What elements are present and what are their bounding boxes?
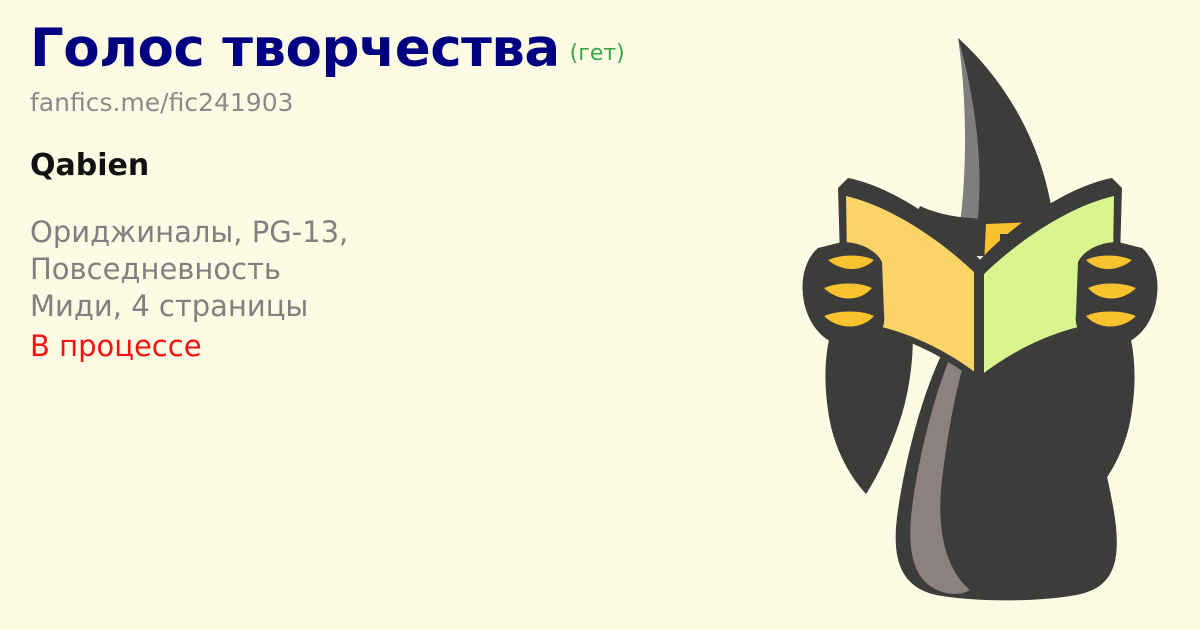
meta-line-fandom-rating: Ориджиналы, PG-13, — [30, 214, 730, 251]
right-hand — [1076, 242, 1158, 344]
book-spine — [976, 266, 984, 392]
meta-line-genre: Повседневность — [30, 251, 730, 288]
author-name: Qabien — [30, 148, 730, 183]
source-url: fanfics.me/fic241903 — [30, 88, 730, 117]
meta-line-size-pages: Миди, 4 страницы — [30, 288, 730, 325]
status-badge: В процессе — [30, 328, 730, 365]
metadata-block: Ориджиналы, PG-13, Повседневность Миди, … — [30, 214, 730, 365]
text-column: Голос творчества(гет) fanfics.me/fic2419… — [30, 22, 730, 365]
page-title: Голос творчества — [30, 18, 560, 79]
fanfic-preview-card: Голос творчества(гет) fanfics.me/fic2419… — [0, 0, 1200, 630]
left-hand — [803, 242, 885, 344]
category-badge: (гет) — [570, 41, 625, 66]
title-line: Голос творчества(гет) — [30, 22, 730, 76]
witch-reading-book-illustration — [770, 10, 1190, 630]
